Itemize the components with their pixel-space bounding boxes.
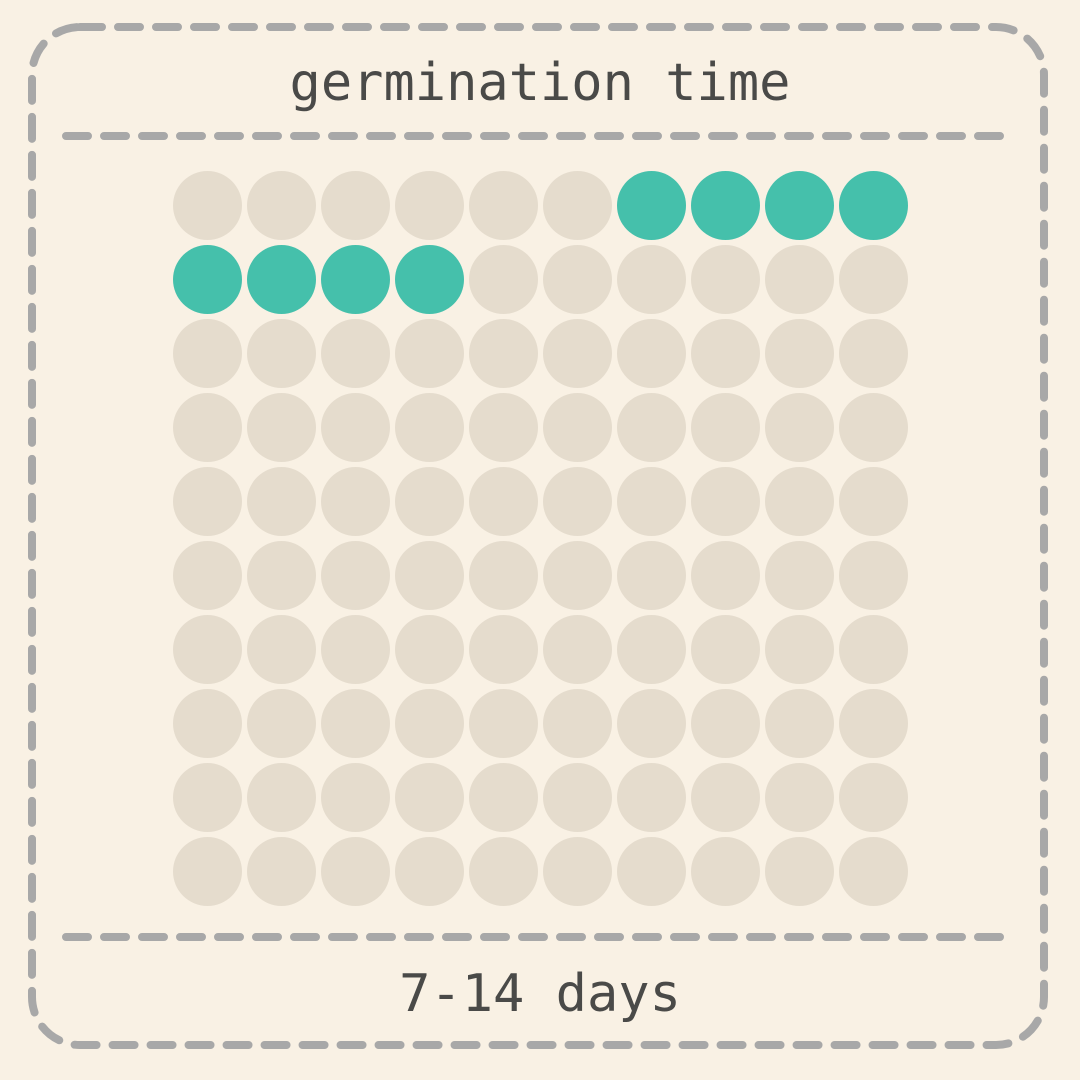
waffle-dot-empty xyxy=(543,393,612,462)
waffle-cell xyxy=(318,168,392,242)
waffle-cell xyxy=(170,686,244,760)
waffle-cell xyxy=(614,612,688,686)
waffle-cell xyxy=(762,242,836,316)
waffle-cell xyxy=(836,242,910,316)
waffle-cell xyxy=(392,834,466,908)
waffle-cell xyxy=(466,834,540,908)
waffle-dot-empty xyxy=(173,467,242,536)
waffle-cell xyxy=(318,612,392,686)
waffle-cell xyxy=(688,390,762,464)
waffle-dot-empty xyxy=(839,615,908,684)
waffle-cell xyxy=(392,612,466,686)
waffle-cell xyxy=(688,760,762,834)
waffle-dot-empty xyxy=(469,837,538,906)
waffle-dot-empty xyxy=(543,615,612,684)
waffle-cell xyxy=(540,168,614,242)
waffle-cell xyxy=(688,168,762,242)
waffle-dot-empty xyxy=(691,541,760,610)
waffle-cell xyxy=(170,538,244,612)
waffle-cell xyxy=(540,760,614,834)
waffle-cell xyxy=(170,834,244,908)
waffle-cell xyxy=(392,464,466,538)
waffle-dot-empty xyxy=(691,245,760,314)
waffle-cell xyxy=(540,390,614,464)
waffle-dot-empty xyxy=(395,615,464,684)
waffle-dot-empty xyxy=(617,541,686,610)
waffle-cell xyxy=(762,686,836,760)
waffle-dot-empty xyxy=(765,689,834,758)
waffle-cell xyxy=(688,686,762,760)
waffle-cell xyxy=(392,316,466,390)
waffle-cell xyxy=(170,464,244,538)
waffle-dot-empty xyxy=(395,393,464,462)
waffle-dot-empty xyxy=(543,319,612,388)
infographic-card: germination time 7-14 days xyxy=(0,0,1080,1080)
waffle-cell xyxy=(836,390,910,464)
waffle-dot-empty xyxy=(543,689,612,758)
waffle-cell xyxy=(244,168,318,242)
waffle-cell xyxy=(762,760,836,834)
waffle-cell xyxy=(836,464,910,538)
waffle-cell xyxy=(466,168,540,242)
waffle-cell xyxy=(540,686,614,760)
waffle-cell xyxy=(614,538,688,612)
waffle-dot-empty xyxy=(173,689,242,758)
waffle-dot-grid xyxy=(170,168,910,908)
waffle-cell xyxy=(762,390,836,464)
waffle-dot-empty xyxy=(691,615,760,684)
waffle-cell xyxy=(762,538,836,612)
waffle-cell xyxy=(466,242,540,316)
waffle-cell xyxy=(836,168,910,242)
waffle-dot-empty xyxy=(173,171,242,240)
waffle-cell xyxy=(466,760,540,834)
waffle-dot-empty xyxy=(321,615,390,684)
waffle-cell xyxy=(244,390,318,464)
waffle-dot-empty xyxy=(247,615,316,684)
waffle-cell xyxy=(392,242,466,316)
waffle-dot-empty xyxy=(395,837,464,906)
waffle-dot-empty xyxy=(469,467,538,536)
waffle-cell xyxy=(540,316,614,390)
waffle-cell xyxy=(614,390,688,464)
waffle-cell xyxy=(836,760,910,834)
waffle-cell xyxy=(688,834,762,908)
waffle-cell xyxy=(170,612,244,686)
waffle-dot-empty xyxy=(247,837,316,906)
waffle-dot-empty xyxy=(765,319,834,388)
waffle-dot-filled xyxy=(247,245,316,314)
waffle-dot-empty xyxy=(321,541,390,610)
waffle-dot-empty xyxy=(617,245,686,314)
waffle-cell xyxy=(762,612,836,686)
waffle-dot-empty xyxy=(691,763,760,832)
waffle-cell xyxy=(170,316,244,390)
waffle-cell xyxy=(244,316,318,390)
waffle-dot-empty xyxy=(395,763,464,832)
waffle-dot-empty xyxy=(321,467,390,536)
waffle-dot-filled xyxy=(321,245,390,314)
waffle-dot-empty xyxy=(765,541,834,610)
waffle-cell xyxy=(540,242,614,316)
waffle-cell xyxy=(836,316,910,390)
waffle-cell xyxy=(170,168,244,242)
waffle-dot-empty xyxy=(247,541,316,610)
waffle-dot-empty xyxy=(543,171,612,240)
waffle-dot-filled xyxy=(395,245,464,314)
waffle-dot-empty xyxy=(173,615,242,684)
waffle-cell xyxy=(392,390,466,464)
waffle-dot-empty xyxy=(321,689,390,758)
waffle-cell xyxy=(688,464,762,538)
waffle-dot-empty xyxy=(247,689,316,758)
waffle-dot-empty xyxy=(469,763,538,832)
waffle-cell xyxy=(540,464,614,538)
waffle-cell xyxy=(318,242,392,316)
waffle-dot-empty xyxy=(247,763,316,832)
waffle-dot-empty xyxy=(395,319,464,388)
waffle-cell xyxy=(836,538,910,612)
waffle-dot-empty xyxy=(247,171,316,240)
waffle-dot-empty xyxy=(321,837,390,906)
waffle-dot-empty xyxy=(765,393,834,462)
waffle-cell xyxy=(318,316,392,390)
waffle-dot-filled xyxy=(617,171,686,240)
waffle-dot-empty xyxy=(839,763,908,832)
waffle-dot-empty xyxy=(173,393,242,462)
waffle-dot-empty xyxy=(247,393,316,462)
waffle-dot-empty xyxy=(617,837,686,906)
waffle-cell xyxy=(318,834,392,908)
waffle-cell xyxy=(466,390,540,464)
waffle-dot-empty xyxy=(839,319,908,388)
waffle-dot-empty xyxy=(321,171,390,240)
waffle-dot-empty xyxy=(839,245,908,314)
waffle-dot-empty xyxy=(765,245,834,314)
waffle-dot-empty xyxy=(839,541,908,610)
waffle-dot-empty xyxy=(469,393,538,462)
waffle-cell xyxy=(762,464,836,538)
waffle-dot-empty xyxy=(469,615,538,684)
waffle-dot-empty xyxy=(691,319,760,388)
waffle-dot-empty xyxy=(395,171,464,240)
waffle-cell xyxy=(392,686,466,760)
waffle-cell xyxy=(540,834,614,908)
waffle-dot-empty xyxy=(839,689,908,758)
waffle-dot-empty xyxy=(469,689,538,758)
waffle-dot-empty xyxy=(321,763,390,832)
waffle-dot-filled xyxy=(839,171,908,240)
waffle-dot-empty xyxy=(321,393,390,462)
waffle-dot-empty xyxy=(173,837,242,906)
waffle-cell xyxy=(540,612,614,686)
waffle-cell xyxy=(688,612,762,686)
waffle-cell xyxy=(170,242,244,316)
waffle-cell xyxy=(688,538,762,612)
waffle-dot-empty xyxy=(765,615,834,684)
waffle-dot-empty xyxy=(395,467,464,536)
waffle-dot-filled xyxy=(691,171,760,240)
waffle-dot-empty xyxy=(543,245,612,314)
waffle-cell xyxy=(836,834,910,908)
waffle-dot-empty xyxy=(691,837,760,906)
waffle-dot-empty xyxy=(247,319,316,388)
waffle-dot-empty xyxy=(691,689,760,758)
waffle-dot-empty xyxy=(691,467,760,536)
waffle-dot-empty xyxy=(173,763,242,832)
waffle-dot-empty xyxy=(395,541,464,610)
waffle-dot-empty xyxy=(617,615,686,684)
waffle-dot-empty xyxy=(173,541,242,610)
waffle-cell xyxy=(614,760,688,834)
waffle-cell xyxy=(318,390,392,464)
waffle-dot-filled xyxy=(173,245,242,314)
waffle-cell xyxy=(688,242,762,316)
waffle-dot-empty xyxy=(691,393,760,462)
waffle-dot-filled xyxy=(765,171,834,240)
waffle-cell xyxy=(318,538,392,612)
waffle-cell xyxy=(244,538,318,612)
waffle-dot-empty xyxy=(469,171,538,240)
waffle-dot-empty xyxy=(543,541,612,610)
waffle-dot-empty xyxy=(395,689,464,758)
waffle-cell xyxy=(762,168,836,242)
waffle-dot-empty xyxy=(543,763,612,832)
waffle-cell xyxy=(170,390,244,464)
waffle-cell xyxy=(614,686,688,760)
waffle-dot-empty xyxy=(765,837,834,906)
waffle-cell xyxy=(466,538,540,612)
waffle-dot-empty xyxy=(543,467,612,536)
waffle-dot-empty xyxy=(765,763,834,832)
waffle-dot-empty xyxy=(617,689,686,758)
waffle-cell xyxy=(466,316,540,390)
waffle-cell xyxy=(836,612,910,686)
waffle-dot-empty xyxy=(543,837,612,906)
waffle-cell xyxy=(318,686,392,760)
waffle-cell xyxy=(614,316,688,390)
waffle-cell xyxy=(688,316,762,390)
waffle-dot-empty xyxy=(839,393,908,462)
waffle-cell xyxy=(540,538,614,612)
waffle-cell xyxy=(614,168,688,242)
waffle-cell xyxy=(244,834,318,908)
waffle-cell xyxy=(244,686,318,760)
waffle-cell xyxy=(244,242,318,316)
waffle-dot-empty xyxy=(469,319,538,388)
waffle-cell xyxy=(392,760,466,834)
waffle-dot-empty xyxy=(247,467,316,536)
waffle-cell xyxy=(466,612,540,686)
waffle-dot-empty xyxy=(321,319,390,388)
card-footer-value: 7-14 days xyxy=(65,958,1015,1030)
waffle-cell xyxy=(762,834,836,908)
waffle-dot-empty xyxy=(617,467,686,536)
waffle-cell xyxy=(762,316,836,390)
waffle-cell xyxy=(614,464,688,538)
waffle-cell xyxy=(170,760,244,834)
waffle-cell xyxy=(466,464,540,538)
waffle-cell xyxy=(466,686,540,760)
waffle-dot-empty xyxy=(617,393,686,462)
waffle-dot-empty xyxy=(839,837,908,906)
waffle-cell xyxy=(836,686,910,760)
waffle-cell xyxy=(318,760,392,834)
waffle-cell xyxy=(244,760,318,834)
waffle-dot-empty xyxy=(173,319,242,388)
waffle-dot-empty xyxy=(469,541,538,610)
waffle-dot-empty xyxy=(765,467,834,536)
waffle-dot-empty xyxy=(839,467,908,536)
waffle-cell xyxy=(614,242,688,316)
waffle-cell xyxy=(392,538,466,612)
waffle-cell xyxy=(244,464,318,538)
waffle-dot-empty xyxy=(617,763,686,832)
waffle-dot-empty xyxy=(617,319,686,388)
waffle-cell xyxy=(392,168,466,242)
waffle-cell xyxy=(318,464,392,538)
waffle-cell xyxy=(614,834,688,908)
waffle-dot-empty xyxy=(469,245,538,314)
card-title: germination time xyxy=(65,47,1015,119)
waffle-cell xyxy=(244,612,318,686)
